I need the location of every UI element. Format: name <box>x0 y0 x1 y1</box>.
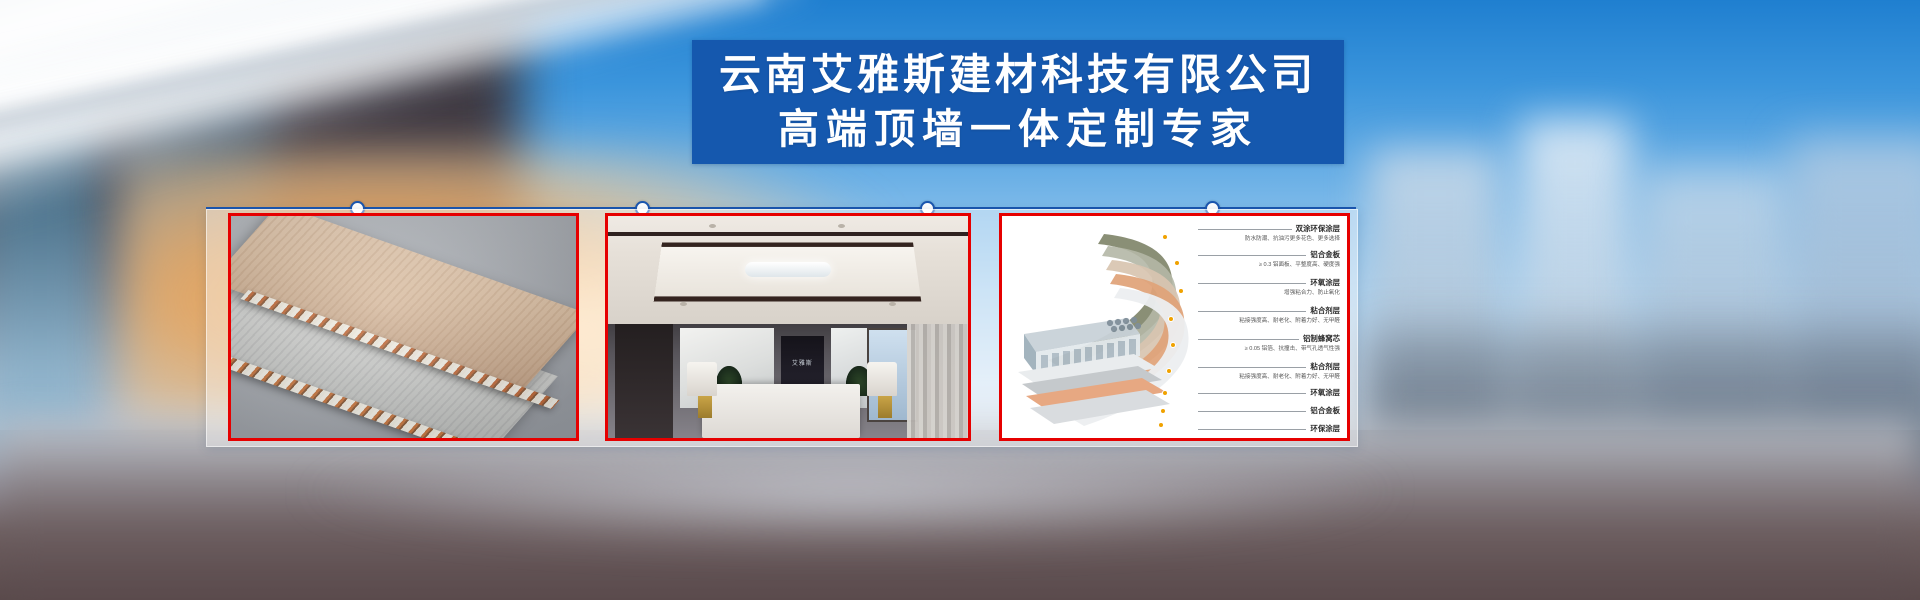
layer-label: 环保涂层 <box>1198 424 1340 434</box>
layer-title: 双涂环保涂层 <box>1292 224 1340 234</box>
layer-label: 环氧涂层 <box>1198 388 1340 398</box>
layer-title: 铝合金板 <box>1306 250 1340 260</box>
panel2-reception-counter <box>702 384 860 438</box>
panel2-lamp-right <box>867 362 897 396</box>
panel2-lamp-left-base <box>698 396 712 418</box>
panel2-spotlight-1 <box>709 224 716 228</box>
layer-sub: 防水防潮、抗油污更多花色、更多选择 <box>1241 235 1340 244</box>
panel2-ceiling-light <box>745 262 831 277</box>
panel2-ceiling-band <box>608 232 968 236</box>
layer-title: 环保涂层 <box>1306 424 1340 434</box>
panel2-spotlight-3 <box>680 302 687 306</box>
layer-title: 铝合金板 <box>1306 406 1340 416</box>
panel2-curtain <box>907 320 968 438</box>
layer-label: 粘合剂层 粘接强度高、耐老化、附着力好、无甲醛 <box>1198 306 1340 326</box>
layer-label: 铝制蜂窝芯 ≥ 0.05 铝箔、抗撞击、带气孔透气性强 <box>1198 334 1340 354</box>
callout-dot <box>1166 368 1172 374</box>
layer-label: 环氧涂层 增强粘合力、防止氧化 <box>1198 278 1340 298</box>
background-ground-sheen <box>300 455 1400 545</box>
callout-dot <box>1158 422 1164 428</box>
panel1-vignette <box>231 216 576 438</box>
layer-title: 环氧涂层 <box>1306 278 1340 288</box>
headline-line-2: 高端顶墙一体定制专家 <box>778 102 1258 156</box>
layer-label: 铝合金板 ≥ 0.3 铝面板、平整度高、硬度强 <box>1198 250 1340 270</box>
panel-layer-diagram[interactable]: 双涂环保涂层 防水防潮、抗油污更多花色、更多选择 铝合金板 ≥ 0.3 铝面板、… <box>999 213 1350 441</box>
callout-dot <box>1162 390 1168 396</box>
panel2-lamp-right-base <box>878 396 892 418</box>
layer-sub: 粘接强度高、耐老化、附着力好、无甲醛 <box>1235 317 1340 326</box>
panel2-screen-logo: 艾雅斯 <box>781 358 824 370</box>
headline-line-1: 云南艾雅斯建材科技有限公司 <box>719 48 1317 102</box>
callout-dot <box>1178 288 1184 294</box>
layer-sub: ≥ 0.3 铝面板、平整度高、硬度强 <box>1255 261 1340 270</box>
layer-label-list: 双涂环保涂层 防水防潮、抗油污更多花色、更多选择 铝合金板 ≥ 0.3 铝面板、… <box>1198 222 1340 432</box>
layer-label: 双涂环保涂层 防水防潮、抗油污更多花色、更多选择 <box>1198 224 1340 244</box>
callout-dot <box>1162 234 1168 240</box>
layer-label: 粘合剂层 粘接强度高、耐老化、附着力好、无甲醛 <box>1198 362 1340 382</box>
layer-label: 铝合金板 <box>1198 406 1340 416</box>
layer-sub: ≥ 0.05 铝箔、抗撞击、带气孔透气性强 <box>1241 345 1340 354</box>
layer-title: 粘合剂层 <box>1306 306 1340 316</box>
panel2-cabinet-left <box>615 320 673 438</box>
callout-dot <box>1174 260 1180 266</box>
callout-dot <box>1168 316 1174 322</box>
panel2-scene: 艾雅斯 <box>608 216 968 438</box>
banner-stage: 云南艾雅斯建材科技有限公司 高端顶墙一体定制专家 艾雅斯 <box>0 0 1920 600</box>
panel2-spotlight-4 <box>889 302 896 306</box>
callout-dot <box>1170 342 1176 348</box>
panel-honeycomb-photo[interactable] <box>228 213 579 441</box>
panel3-background: 双涂环保涂层 防水防潮、抗油污更多花色、更多选择 铝合金板 ≥ 0.3 铝面板、… <box>1002 216 1347 438</box>
layer-title: 粘合剂层 <box>1306 362 1340 372</box>
callout-dot <box>1160 408 1166 414</box>
layer-sub: 粘接强度高、耐老化、附着力好、无甲醛 <box>1235 373 1340 382</box>
panel2-lamp-left <box>687 362 717 396</box>
headline-banner: 云南艾雅斯建材科技有限公司 高端顶墙一体定制专家 <box>692 40 1344 164</box>
layer-stack-illustration <box>1008 222 1208 430</box>
panel-interior-render[interactable]: 艾雅斯 <box>605 213 971 441</box>
layer-title: 环氧涂层 <box>1306 388 1340 398</box>
layer-sub: 增强粘合力、防止氧化 <box>1280 289 1340 298</box>
layer-title: 铝制蜂窝芯 <box>1299 334 1340 344</box>
